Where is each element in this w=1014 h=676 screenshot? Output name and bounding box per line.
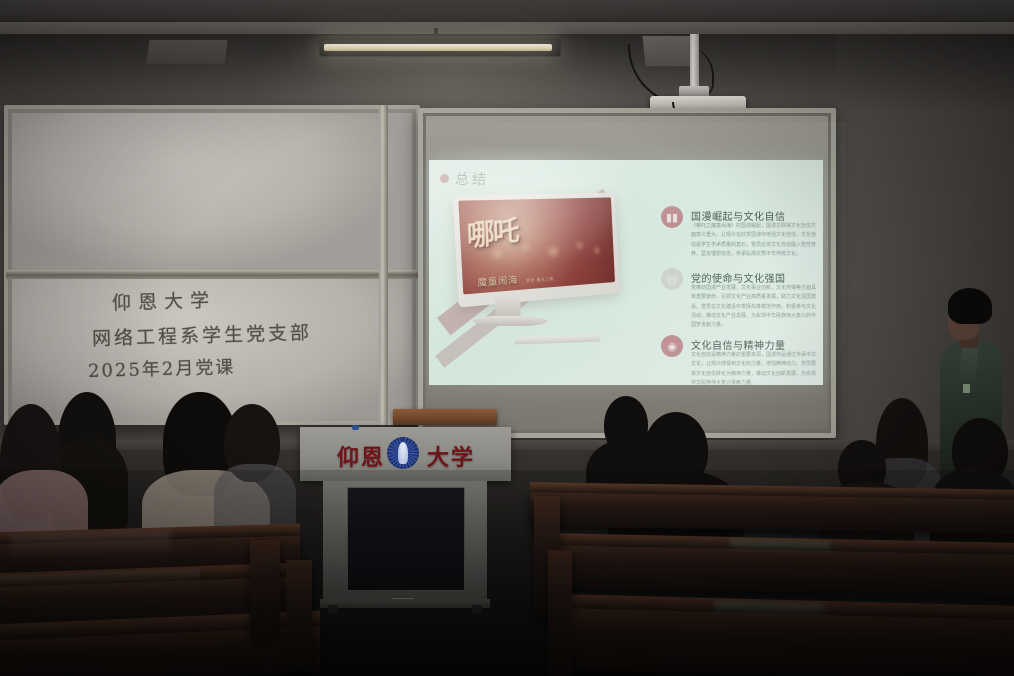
podium-control-screen[interactable] <box>347 487 465 591</box>
slide-bullet-2-body: 党推动国漫产业发展，文化事业创新、文化传播等方面具有重要使命，引领文化产业高质量… <box>691 284 819 330</box>
slide-title-bullet-icon <box>440 174 449 183</box>
desk-row-right-3 <box>556 608 1014 676</box>
movie-poster-subtitle-small: 贺岁 春节上映 <box>526 276 554 284</box>
slide-bullet-3-body: 文化自信是精神力量的重要来源，国漫作品通过传承中华文化，让观众感受到文化的力量，… <box>691 351 819 385</box>
whiteboard-slide-rail[interactable] <box>6 270 418 279</box>
open-book-glyph: ▤ <box>661 268 683 290</box>
chart-bars-glyph: ▮▮ <box>661 206 683 228</box>
desk-right-3-projector-reflection <box>714 601 824 618</box>
slide-monitor-mockup: 哪吒 魔童闹海 贺岁 春节上映 <box>453 193 620 308</box>
movie-poster-characters <box>460 223 614 273</box>
whiteboard-panel-upper <box>12 113 412 276</box>
desk-left-1-reflection <box>10 530 170 562</box>
standing-man-hair <box>948 288 992 324</box>
slide-title: 总结 <box>455 169 489 189</box>
podium-caster-left <box>328 605 338 614</box>
podium-wooden-top <box>393 409 497 425</box>
podium-text-right: 大学 <box>427 440 475 472</box>
monitor-base <box>473 316 547 326</box>
whiteboard-vertical-frame <box>379 105 388 425</box>
chart-bars-icon: ▮▮ <box>661 206 683 228</box>
open-book-icon: ▤ <box>661 268 683 290</box>
whiteboard-line-3: 2025年2月党课 <box>88 353 236 383</box>
desk-right-side-panel-2 <box>548 550 572 676</box>
desk-left-side-panel-1 <box>250 540 280 640</box>
podium-caster-right <box>472 605 482 614</box>
podium-text-left: 仰恩 <box>337 440 385 472</box>
slide-bullet-1-body: 《哪吒之魔童闹海》的国漫崛起，国漫在取得文化自信方面意义重大。让观众在欣赏国漫中… <box>691 222 819 259</box>
university-seal-emblem-icon <box>387 437 419 469</box>
monitor-screen: 哪吒 魔童闹海 贺岁 春节上映 <box>458 197 615 294</box>
desk-right-2-projector-reflection <box>730 539 830 553</box>
slide-bullet-3-heading: 文化自信与精神力量 <box>691 337 786 352</box>
lightbulb-icon: ◉ <box>661 335 683 357</box>
classroom-photo-scene: 仰恩大学 网络工程系学生党支部 2025年2月党课 总结 哪吒 魔童闹海 贺岁 … <box>0 0 1014 676</box>
desk-left-side-panel-2 <box>286 560 312 670</box>
lightbulb-glyph: ◉ <box>661 335 683 357</box>
projector-mount-pole <box>690 34 699 92</box>
ceiling-vent <box>147 40 228 64</box>
projected-slide: 总结 哪吒 魔童闹海 贺岁 春节上映 ▮▮ 国漫崛起与文化自信 《哪吒之魔童闹海… <box>429 160 823 385</box>
podium-base <box>320 599 490 608</box>
standing-man-badge <box>963 384 970 393</box>
slide-keyboard-mockup <box>514 334 603 344</box>
whiteboard-line-1: 仰恩大学 <box>112 286 217 316</box>
movie-poster-subtitle: 魔童闹海 <box>477 273 518 289</box>
slide-bullet-2-heading: 党的使命与文化强国 <box>691 270 786 285</box>
fluorescent-tube-light-icon <box>324 44 552 51</box>
slide-bullet-1-heading: 国漫崛起与文化自信 <box>691 208 786 223</box>
podium-indicator-light <box>352 425 359 430</box>
